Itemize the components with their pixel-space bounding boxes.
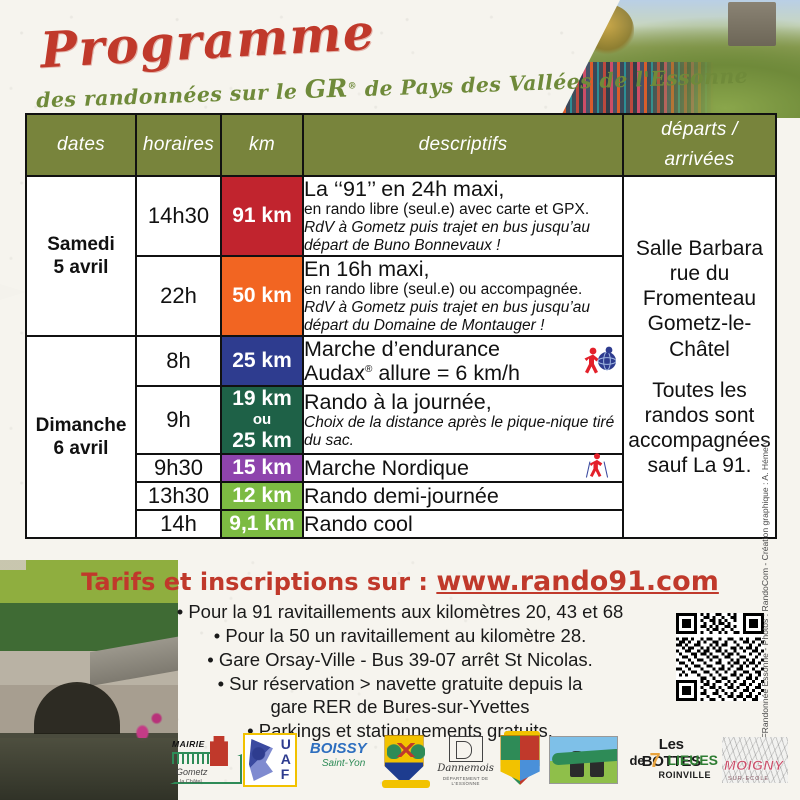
departure-address: Salle Barbararue duFromenteauGometz-le-C… [636, 237, 763, 361]
tarifs-line: Tarifs et inscriptions sur : www.rando91… [0, 566, 800, 597]
logo-mairie-gometz: MAIRIE Gometz la Châtel [168, 734, 234, 786]
logo-shield-quartered [500, 735, 539, 785]
shield-banner [382, 780, 430, 788]
cell-descriptif: Rando cool [303, 510, 623, 538]
bullet-item: • Sur réservation > navette gratuite dep… [150, 672, 650, 696]
bullet-item: gare RER de Bures-sur-Yvettes [150, 695, 650, 719]
descriptif-italic: RdV à Gometz puis trajet en bus jusqu’au… [304, 219, 622, 255]
descriptif-title: Rando cool [304, 512, 622, 536]
audax-pace: allure = 6 km/h [372, 361, 520, 385]
audax-walker-globe-icon [582, 344, 616, 378]
logo-uaf-letters: UAF [281, 737, 291, 782]
cell-hour: 22h [136, 256, 221, 336]
qr-code[interactable] [676, 613, 764, 701]
cell-hour: 14h30 [136, 176, 221, 256]
table-header-row: dates horaires km descriptifs départs / … [26, 114, 776, 176]
subtitle-gr: GR [304, 74, 348, 104]
bullet-item: • Gare Orsay-Ville - Bus 39-07 arrêt St … [150, 648, 650, 672]
descriptif-title: Marche Nordique [304, 456, 622, 480]
programme-table: dates horaires km descriptifs départs / … [25, 113, 777, 539]
cell-descriptif: Marche d’endurance Audax® allure = 6 km/… [303, 336, 623, 386]
partner-logos: MAIRIE Gometz la Châtel UAF BOISSY Saint… [168, 731, 788, 789]
descriptif-title: En 16h maxi, [304, 257, 622, 281]
audax-label: Audax [304, 361, 365, 385]
departure-note: Toutes lesrandos sontaccompagnéessauf La… [628, 379, 770, 478]
logo-shield-oaks [384, 735, 423, 785]
spacer [624, 362, 775, 378]
cell-descriptif: Marche Nordique [303, 454, 623, 482]
cell-departs-arrivees: Salle Barbararue duFromenteauGometz-le-C… [623, 176, 776, 538]
page-title: Programme [39, 3, 377, 80]
logo-photo-ribbon [551, 749, 618, 766]
poster-canvas: Programme des randonnées sur le GR® de P… [0, 0, 800, 800]
cell-km: 9,1 km [221, 510, 303, 538]
logo-dannemois-name: Dannemois [433, 763, 499, 774]
cell-hour: 14h [136, 510, 221, 538]
descriptif-title: La ‘‘91’’ en 24h maxi, [304, 177, 622, 201]
bullet-item: • Pour la 50 un ravitaillement au kilomè… [150, 624, 650, 648]
cell-day-dimanche: Dimanche6 avril [26, 336, 136, 538]
descriptif-sub: en rando libre (seul.e) avec carte et GP… [304, 201, 622, 219]
cell-hour: 9h30 [136, 454, 221, 482]
bullet-item: • Pour la 91 ravitaillements aux kilomèt… [150, 600, 650, 624]
cell-km: 19 km ou 25 km [221, 386, 303, 454]
column-header-dates: dates [26, 114, 136, 176]
cell-km: 50 km [221, 256, 303, 336]
dannemois-mark-icon [449, 736, 483, 762]
cell-descriptif: Rando demi-journée [303, 482, 623, 510]
descriptif-title: Marche d’endurance [304, 337, 622, 361]
descriptif-sub: en rando libre (seul.e) ou accompagnée. [304, 281, 622, 299]
logo-moigny-sub: SUR-ECOLE [728, 776, 769, 782]
logo-uaf: UAF [243, 733, 297, 787]
logo-bottes-lieues: LIEUES [667, 752, 718, 768]
logo-boissy-name: BOISSY [310, 740, 367, 757]
crossed-keys-icon [396, 743, 416, 757]
cell-descriptif: En 16h maxi, en rando libre (seul.e) ou … [303, 256, 623, 336]
castle-shape [728, 2, 776, 46]
logo-dannemois-department: DÉPARTEMENT DE L'ESSONNE [433, 776, 499, 786]
bridge-arch-shape [34, 682, 120, 734]
info-bullets: • Pour la 91 ravitaillements aux kilomèt… [150, 600, 650, 743]
tarifs-label: Tarifs et inscriptions sur : [81, 568, 436, 596]
cell-km: 12 km [221, 482, 303, 510]
cell-hour: 13h30 [136, 482, 221, 510]
subtitle-part1: des randonnées sur le [36, 79, 305, 112]
column-header-km: km [221, 114, 303, 176]
table-row: Samedi5 avril 14h30 91 km La ‘‘91’’ en 2… [26, 176, 776, 256]
logo-bottes-7-lieues: Les BOTTES de 7 LIEUES ROINVILLE [627, 734, 713, 786]
cell-km: 25 km [221, 336, 303, 386]
header: Programme des randonnées sur le GR® de P… [0, 8, 560, 108]
km-value-2: 25 km [232, 429, 292, 452]
logo-mairie-label: MAIRIE [172, 739, 205, 749]
cell-km: 91 km [221, 176, 303, 256]
cell-km: 15 km [221, 454, 303, 482]
logo-moigny: MOIGNY SUR-ECOLE [722, 737, 788, 783]
column-header-descriptifs: descriptifs [303, 114, 623, 176]
water-shape [0, 738, 178, 800]
km-separator: ou [222, 411, 302, 428]
cell-hour: 8h [136, 336, 221, 386]
logo-moigny-name: MOIGNY [724, 757, 784, 773]
nordic-walker-icon [582, 451, 616, 485]
logo-boissy-saint-yon: BOISSY Saint-Yon [306, 734, 376, 786]
logo-mairie-subtitle: la Châtel [180, 779, 202, 785]
descriptif-title-2: Audax® allure = 6 km/h [304, 361, 622, 385]
cell-day-samedi: Samedi5 avril [26, 176, 136, 336]
column-header-departs-arrivees: départs / arrivées [623, 114, 776, 176]
cell-descriptif: La ‘‘91’’ en 24h maxi, en rando libre (s… [303, 176, 623, 256]
shield-quarters [500, 760, 539, 781]
logo-mairie-city: Gometz [176, 767, 208, 777]
logo-photo-club [549, 736, 619, 784]
logo-bottes-city: ROINVILLE [659, 770, 712, 780]
descriptif-title: Rando demi-journée [304, 484, 622, 508]
logo-dannemois: Dannemois DÉPARTEMENT DE L'ESSONNE [433, 734, 492, 786]
cell-descriptif: Rando à la journée, Choix de la distance… [303, 386, 623, 454]
cell-hour: 9h [136, 386, 221, 454]
column-header-horaires: horaires [136, 114, 221, 176]
km-value-1: 19 km [232, 387, 292, 410]
descriptif-italic: Choix de la distance après le pique-niqu… [304, 414, 622, 450]
descriptif-title: Rando à la journée, [304, 390, 622, 414]
subtitle-registered-mark: ® [348, 81, 358, 91]
rando91-link[interactable]: www.rando91.com [436, 566, 719, 597]
descriptif-italic: RdV à Gometz puis trajet en bus jusqu’au… [304, 299, 622, 335]
logo-bottes-de: de [629, 753, 644, 768]
eagle-icon [249, 739, 273, 781]
credit-text: © FFRandonnée Essonne - Photos : RandoCo… [760, 440, 770, 753]
logo-boissy-subname: Saint-Yon [322, 758, 365, 769]
